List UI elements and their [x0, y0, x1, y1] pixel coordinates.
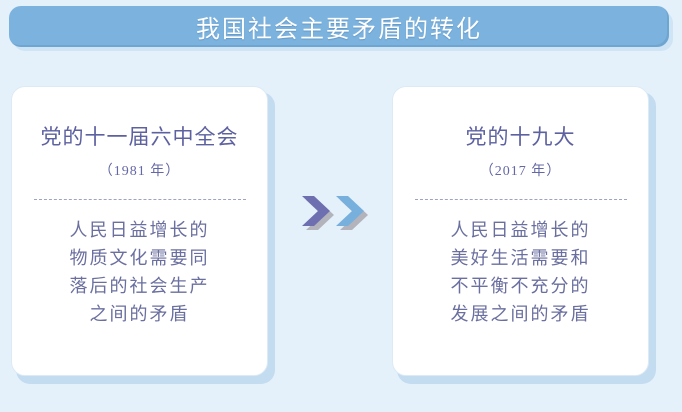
card-2017-text-line-4: 发展之间的矛盾: [451, 300, 591, 328]
card-1981-heading: 党的十一届六中全会: [41, 121, 239, 151]
card-2017-text-line-3: 不平衡不充分的: [451, 272, 591, 300]
card-2017-body: 党的十九大 （2017 年） 人民日益增长的 美好生活需要和 不平衡不充分的 发…: [392, 86, 649, 376]
chevron-right-icon-first: [300, 192, 336, 230]
slide-root: { "header": { "title": "我国社会主要矛盾的转化", "b…: [0, 0, 682, 412]
double-chevron-right-icon: [300, 192, 380, 234]
card-1981: 党的十一届六中全会 （1981 年） 人民日益增长的 物质文化需要同 落后的社会…: [11, 86, 275, 384]
card-2017: 党的十九大 （2017 年） 人民日益增长的 美好生活需要和 不平衡不充分的 发…: [392, 86, 656, 384]
card-1981-text-line-3: 落后的社会生产: [70, 272, 210, 300]
card-1981-divider: [34, 199, 246, 200]
card-1981-text-line-2: 物质文化需要同: [70, 244, 210, 272]
card-2017-subheading: （2017 年）: [480, 160, 562, 180]
card-2017-text-line-2: 美好生活需要和: [451, 244, 591, 272]
title-banner-body: 我国社会主要矛盾的转化: [9, 6, 669, 47]
card-1981-subheading: （1981 年）: [99, 160, 181, 180]
card-2017-text-line-1: 人民日益增长的: [451, 216, 591, 244]
card-1981-text-line-4: 之间的矛盾: [70, 300, 210, 328]
page-title: 我国社会主要矛盾的转化: [196, 9, 482, 44]
card-1981-text: 人民日益增长的 物质文化需要同 落后的社会生产 之间的矛盾: [70, 216, 210, 328]
card-2017-text: 人民日益增长的 美好生活需要和 不平衡不充分的 发展之间的矛盾: [451, 216, 591, 328]
card-1981-body: 党的十一届六中全会 （1981 年） 人民日益增长的 物质文化需要同 落后的社会…: [11, 86, 268, 376]
chevron-right-icon-second: [334, 192, 370, 230]
card-2017-divider: [415, 199, 627, 200]
card-1981-text-line-1: 人民日益增长的: [70, 216, 210, 244]
card-2017-heading: 党的十九大: [466, 121, 576, 151]
title-banner: 我国社会主要矛盾的转化: [9, 6, 673, 50]
